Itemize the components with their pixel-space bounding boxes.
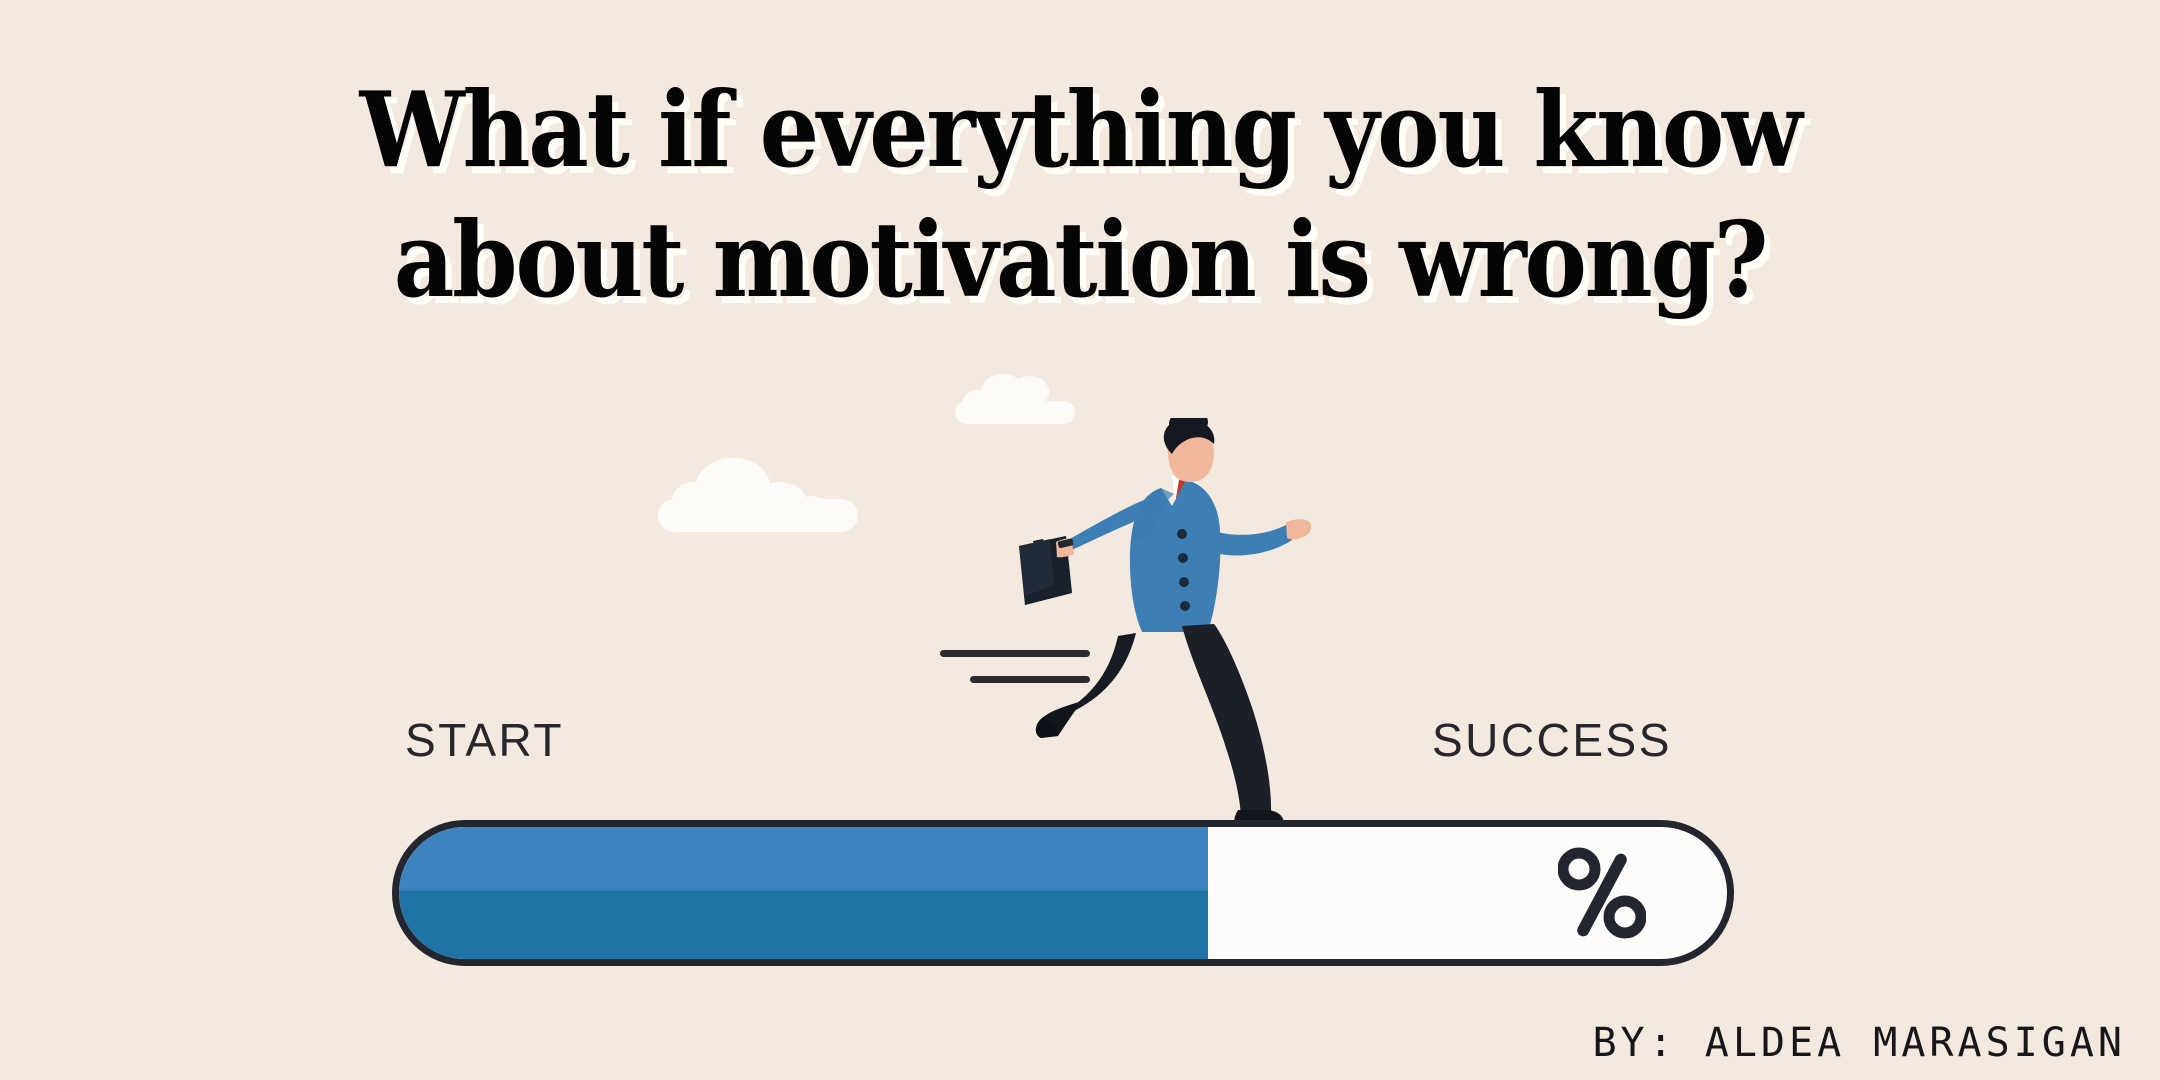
headline-line-1: What if everything you know [108,78,2052,182]
poster-canvas: What if everything you know about motiva… [0,0,2160,1080]
headline-line-2: about motivation is wrong? [108,208,2052,312]
cloud-icon-large [658,470,858,532]
percent-icon [1558,847,1646,939]
byline: BY: ALDEA MARASIGAN [1592,1020,2126,1066]
page-title: What if everything you know about motiva… [0,78,2160,312]
running-businessman-illustration [986,418,1346,838]
progress-start-label: START [405,713,564,767]
progress-fill [398,826,1208,960]
progress-track [392,820,1734,966]
progress-bar[interactable] [392,820,1734,966]
cloud-base [658,499,858,532]
progress-success-label: SUCCESS [1432,713,1672,767]
